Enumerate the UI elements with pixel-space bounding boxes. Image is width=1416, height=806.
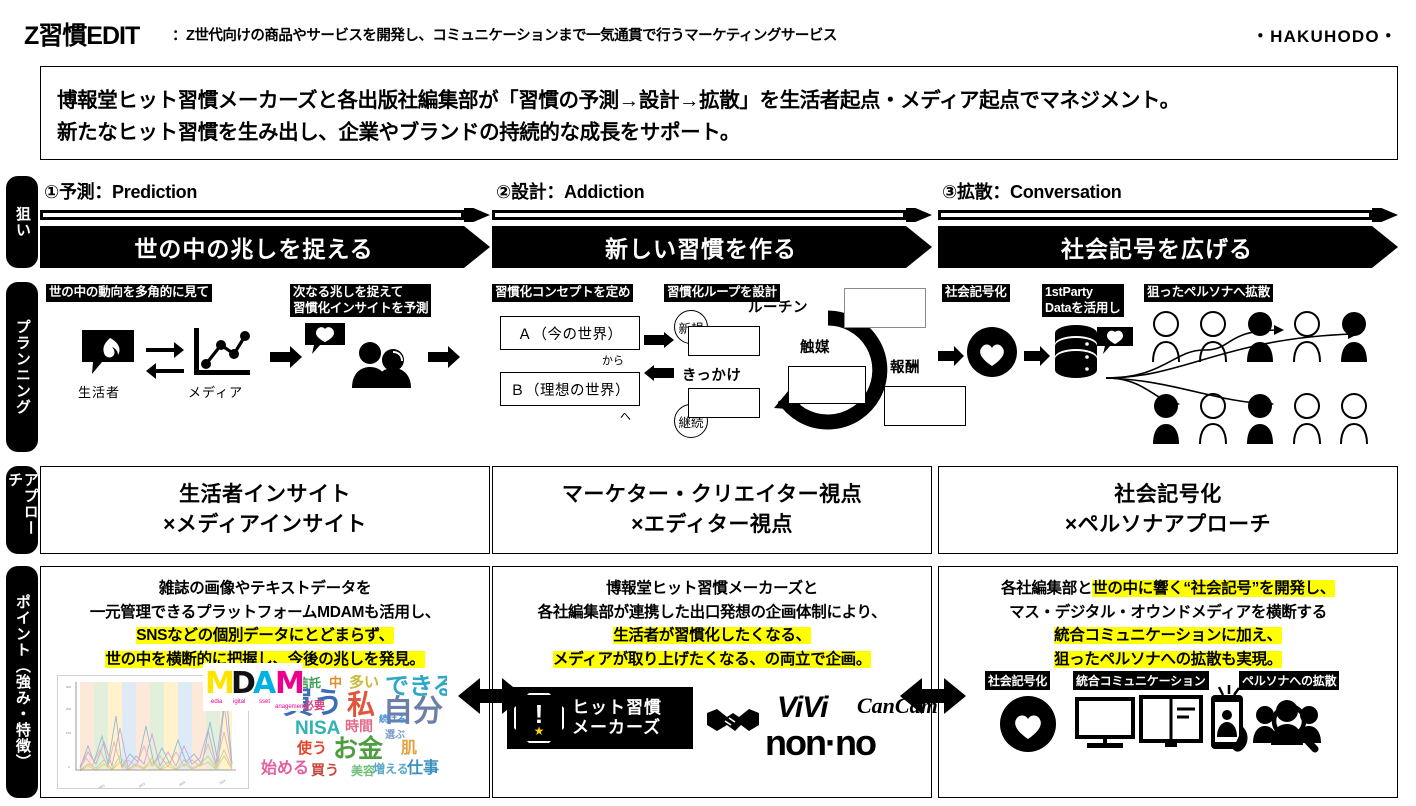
label-trigger: きっかけ — [682, 364, 741, 385]
point-2-line-1: 博報堂ヒット習慣メーカーズと — [606, 580, 818, 597]
hit-habit-makers-logo: ! ★ ヒット習慣 メーカーズ — [507, 687, 693, 749]
word-cloud-term: 使う — [297, 741, 327, 756]
box-world-b: Ｂ（理想の世界） — [500, 372, 640, 406]
persona-row-top — [1152, 310, 1402, 367]
phase-3-banner-text: 社会記号を広げる — [938, 226, 1398, 268]
label-reward: 報酬 — [890, 356, 920, 377]
mdam-sub-anagement: anagement — [275, 704, 305, 710]
svg-text:300: 300 — [66, 685, 71, 689]
phase-1-aim: ①予測：Prediction 世の中の兆しを捉える — [40, 178, 490, 270]
point-box-3: 各社編集部と世の中に響く“社会記号”を開発し、 マス・デジタル・オウンドメディア… — [938, 566, 1398, 798]
lead-line-1: 博報堂ヒット習慣メーカーズと各出版社編集部が「習慣の予測→設計→拡散」を生活者起… — [57, 89, 1180, 112]
svg-text:2024: 2024 — [219, 778, 227, 785]
bubble-catalyst — [788, 366, 866, 404]
approach-box-2: マーケター・クリエイター視点 ×エディター視点 — [492, 466, 932, 554]
hit-makers-line-2: メーカーズ — [572, 718, 662, 738]
phase-3-banner: 社会記号を広げる — [938, 226, 1398, 268]
point-2-line-3: 生活者が習慣化したくなる、 — [613, 627, 811, 644]
caption-media: メディア — [188, 382, 243, 401]
point-1-text: 雑誌の画像やテキストデータを 一元管理できるプラットフォームMDAMも活用し、 … — [41, 577, 489, 671]
phase-1-label: ①予測：Prediction — [44, 178, 197, 204]
label-to: へ — [620, 408, 631, 424]
icon-label-social-symbol: 社会記号化 — [985, 671, 1050, 690]
phase-1-banner: 世の中の兆しを捉える — [40, 226, 490, 268]
row-tag-point: ポイント（強み・特徴） — [6, 566, 38, 798]
phase-2-label: ②設計：Addiction — [496, 178, 644, 204]
mdam-sub-igital: igital — [233, 699, 245, 705]
point-2-line-4: メディアが取り上げたくなる、の両立で企画。 — [553, 651, 871, 668]
row-tag-planning: プランニング — [6, 282, 38, 452]
caption-consumer: 生活者 — [78, 382, 120, 401]
point-3-text: 各社編集部と世の中に響く“社会記号”を開発し、 マス・デジタル・オウンドメディア… — [939, 577, 1397, 671]
page-title: Z習慣EDIT — [24, 16, 139, 52]
point-box-2: 博報堂ヒット習慣メーカーズと 各社編集部が連携した出口発想の企画体制により、 生… — [492, 566, 932, 798]
word-cloud-term: 必要 — [303, 701, 325, 712]
point-1-line-2: 一元管理できるプラットフォームMDAMも活用し、 — [90, 604, 440, 621]
nonno-logo: non·no — [765, 725, 875, 761]
word-cloud-term: 始める — [261, 761, 309, 777]
word-cloud-term: お金 — [333, 737, 383, 762]
consumer-speech-icon — [80, 328, 136, 381]
phase-1-banner-text: 世の中の兆しを捉える — [40, 226, 490, 268]
word-cloud-term: 美容 — [351, 765, 375, 777]
word-cloud-term: 仕事 — [407, 761, 439, 777]
vivi-logo: ViVi — [777, 693, 827, 723]
heart-speech-icon — [304, 322, 346, 361]
phase-3-label: ③拡散：Conversation — [942, 178, 1121, 204]
word-cloud-term: 増える — [373, 763, 409, 775]
heart-circle-icon — [966, 326, 1018, 383]
lead-description-box: 博報堂ヒット習慣メーカーズと各出版社編集部が「習慣の予測→設計→拡散」を生活者起… — [40, 66, 1398, 160]
phase-2-banner-text: 新しい習慣を作る — [492, 226, 932, 268]
phase-3-aim: ③拡散：Conversation 社会記号を広げる — [938, 178, 1398, 270]
media-chart-icon — [190, 326, 252, 383]
planning-column-1: 世の中の動向を多角的に見て 次なる兆しを捉えて 習慣化インサイトを予測 生活者 — [40, 284, 490, 452]
lead-text: 博報堂ヒット習慣メーカーズと各出版社編集部が「習慣の予測→設計→拡散」を生活者起… — [57, 85, 1180, 149]
page-subtitle: ：Z世代向けの商品やサービスを開発し、コミュニケーションまで一気通貫で行うマーケ… — [172, 24, 837, 45]
word-cloud-term: 私 — [347, 691, 375, 719]
lead-line-2: 新たなヒット習慣を生み出し、企業やブランドの持続的な成長をサポート。 — [57, 121, 740, 144]
phase-1-arrow-line — [40, 208, 490, 222]
point-1-line-1: 雑誌の画像やテキストデータを — [159, 580, 371, 597]
approach-box-3: 社会記号化 ×ペルソナアプローチ — [938, 466, 1398, 554]
label-routine: ルーチン — [748, 296, 808, 317]
box-world-a: Ａ（今の世界） — [500, 316, 640, 350]
word-cloud-term: 選ぶ — [385, 731, 405, 741]
icon-label-persona-spread: ペルソナへの拡散 — [1239, 671, 1339, 690]
planning-arrow-2 — [428, 346, 460, 373]
word-cloud-term: 続ける — [379, 715, 406, 724]
double-arrow-2 — [900, 676, 966, 716]
svg-text:0: 0 — [68, 765, 70, 769]
handshake-icon — [705, 699, 761, 746]
heart-circle-icon-bottom — [999, 695, 1057, 758]
double-arrow-1 — [458, 676, 524, 716]
svg-text:2021: 2021 — [98, 783, 106, 788]
planning-tag-concept: 習慣化コンセプトを定め — [492, 284, 633, 302]
word-cloud-term: 買う — [311, 763, 339, 777]
hit-makers-line-1: ヒット習慣 — [572, 698, 662, 718]
star-icon: ★ — [534, 724, 545, 738]
label-from: から — [602, 352, 624, 368]
planning-arrow-4 — [1024, 346, 1050, 371]
planning-column-2: 習慣化コンセプトを定め 習慣化ループを設計 Ａ（今の世界） から Ｂ（理想の世界… — [492, 284, 932, 452]
mdam-sub-sset: sset — [259, 699, 270, 705]
planning-tag-trend-watch: 世の中の動向を多角的に見て — [46, 284, 212, 302]
phase-3-arrow-line — [938, 208, 1398, 222]
approach-box-1: 生活者インサイト ×メディアインサイト — [40, 466, 490, 554]
approach-1-line-2: ×メディアインサイト — [163, 510, 367, 540]
point-3-line-2: マス・デジタル・オウンドメディアを横断する — [1009, 604, 1327, 621]
svg-text:2023: 2023 — [178, 780, 186, 787]
point-3-line-3: 統合コミュニケーションに加え、 — [1054, 627, 1282, 644]
row-tag-approach: アプローチ — [6, 466, 38, 554]
bubble-continue — [688, 388, 760, 418]
planning-tag-persona-spread: 狙ったペルソナへ拡散 — [1144, 284, 1273, 302]
svg-text:2022: 2022 — [138, 781, 146, 788]
concept-exchange-arrows — [644, 332, 674, 389]
mdam-logo: M D A M edia igital sset anagement — [203, 663, 303, 711]
mdam-letter-m2: M — [275, 669, 305, 699]
row-tag-aim: 狙い — [6, 176, 38, 268]
planning-tag-insight-forecast: 次なる兆しを捉えて 習慣化インサイトを予測 — [290, 284, 431, 317]
persona-search-icon — [1251, 695, 1323, 760]
point-2-line-2: 各社編集部が連携した出口発想の企画体制により、 — [538, 604, 887, 621]
icon-label-integrated-comm: 統合コミュニケーション — [1073, 671, 1209, 690]
word-cloud-term: 多い — [349, 675, 379, 690]
bubble-new — [688, 326, 760, 356]
two-persons-icon — [350, 340, 414, 393]
infographic-page: Z習慣EDIT ：Z世代向けの商品やサービスを開発し、コミュニケーションまで一気… — [0, 0, 1416, 806]
planning-arrow-3 — [938, 346, 964, 371]
mdam-sub-edia: edia — [211, 699, 222, 705]
planning-arrow-1 — [270, 346, 302, 373]
phase-2-banner: 新しい習慣を作る — [492, 226, 932, 268]
bubble-routine — [844, 288, 926, 328]
point-3-line-1: 各社編集部と世の中に響く“社会記号”を開発し、 — [1001, 580, 1335, 597]
point-3-line-4: 狙ったペルソナへの拡散も実現。 — [1054, 651, 1282, 668]
planning-tag-social-symbol: 社会記号化 — [942, 284, 1010, 302]
point-1-line-3: SNSなどの個別データにとどまらず、 — [136, 627, 394, 644]
svg-text:100: 100 — [66, 731, 71, 735]
page-header: Z習慣EDIT ：Z世代向けの商品やサービスを開発し、コミュニケーションまで一気… — [0, 0, 1416, 58]
book-icon — [1139, 693, 1203, 758]
approach-3-line-2: ×ペルソナアプローチ — [1065, 510, 1271, 540]
point-2-text: 博報堂ヒット習慣メーカーズと 各社編集部が連携した出口発想の企画体制により、 生… — [493, 577, 931, 671]
approach-3-line-1: 社会記号化 — [1114, 480, 1222, 510]
exchange-arrows-icon — [144, 339, 186, 384]
point-box-1: 雑誌の画像やテキストデータを 一元管理できるプラットフォームMDAMも活用し、 … — [40, 566, 490, 798]
mdam-letter-a: A — [253, 669, 276, 699]
smartphone-icon — [1201, 683, 1253, 760]
database-icon — [1054, 324, 1098, 385]
phase-2-aim: ②設計：Addiction 新しい習慣を作る — [492, 178, 932, 270]
approach-2-line-2: ×エディター視点 — [631, 510, 793, 540]
word-cloud-term: 時間 — [345, 719, 373, 733]
tv-icon — [1075, 695, 1135, 758]
word-cloud-term: 肌 — [401, 741, 417, 757]
persona-row-bottom — [1152, 392, 1402, 449]
approach-2-line-1: マーケター・クリエイター視点 — [562, 480, 862, 510]
svg-text:200: 200 — [66, 707, 71, 711]
phase-2-arrow-line — [492, 208, 932, 222]
approach-1-line-1: 生活者インサイト — [179, 480, 351, 510]
label-catalyst: 触媒 — [800, 336, 830, 357]
hit-makers-text: ヒット習慣 メーカーズ — [572, 698, 662, 737]
planning-column-3: 社会記号化 1stParty Dataを活用し 狙ったペルソナへ拡散 — [938, 284, 1398, 452]
hakuhodo-logo: ・HAKUHODO・ — [1252, 22, 1398, 47]
